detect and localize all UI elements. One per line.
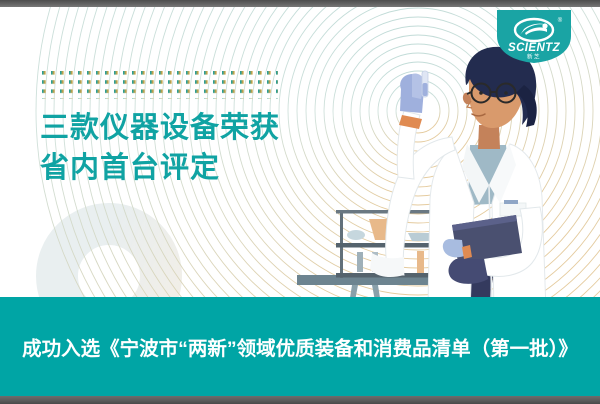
bottom-frame-bar	[0, 396, 600, 404]
logo-registered-mark: ®	[558, 17, 563, 24]
scientz-logo[interactable]: SCIENTZ ® 新芝	[495, 10, 573, 63]
logo-sub-text: 新芝	[527, 53, 541, 61]
top-frame-bar	[0, 0, 600, 7]
banner-text: 成功入选《宁波市“两新”领域优质装备和消费品清单（第一批）》	[22, 332, 578, 361]
poster-root: 三款仪器设备荣获 省内首台评定	[0, 0, 600, 404]
page-title: 三款仪器设备荣获 省内首台评定	[40, 108, 280, 188]
headline-line-1: 三款仪器设备荣获	[40, 108, 280, 148]
bottom-banner: 成功入选《宁波市“两新”领域优质装备和消费品清单（第一批）》	[0, 297, 600, 396]
logo-wordmark: SCIENTZ	[508, 42, 561, 54]
headline-line-2: 省内首台评定	[40, 148, 280, 188]
